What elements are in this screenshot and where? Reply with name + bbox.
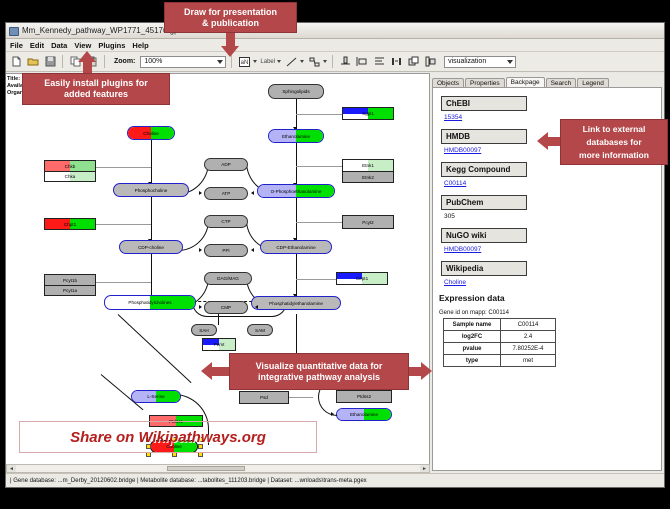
- scroll-right-icon[interactable]: ►: [420, 465, 429, 472]
- node-phosphatidylethanolamine[interactable]: Phosphatidylethanolamine: [251, 296, 341, 310]
- title-bar: Mm_Kennedy_pathway_WP1771_45176.gpml: [6, 23, 664, 39]
- callout-link-line1: Link to external: [583, 123, 646, 136]
- visualization-value: visualization: [448, 58, 486, 65]
- node-label: DAG/MAG: [217, 276, 239, 281]
- node-ethanolamine-top[interactable]: Ethanolamine: [268, 129, 324, 143]
- edge-etnk-link: [296, 166, 342, 167]
- cell-value: C00114: [501, 319, 556, 331]
- menu-item-plugins[interactable]: Plugins: [98, 41, 125, 50]
- expression-table: Sample name C00114 log2FC 2.4 pvalue 7.8…: [443, 318, 556, 367]
- node-label: Psd: [260, 395, 268, 400]
- db-link-nugo[interactable]: HMDB00097: [444, 246, 661, 253]
- node-label: O-Phosphoethanolamine: [271, 189, 322, 194]
- node-ctp[interactable]: CTP: [204, 215, 248, 228]
- expression-data-heading: Expression data: [439, 293, 661, 303]
- chevron-down-icon: [507, 60, 513, 64]
- node-label: ADP: [221, 162, 230, 167]
- app-icon: [9, 26, 18, 35]
- node-label: Chpt1: [64, 222, 76, 227]
- node-pcyt1a[interactable]: Pcyt1a: [44, 285, 96, 296]
- datanode-icon[interactable]: aN: [237, 55, 251, 69]
- table-row: log2FC 2.4: [444, 331, 556, 343]
- callout-draw-line2: & publication: [202, 18, 259, 29]
- node-label: CDP-choline: [138, 245, 164, 250]
- node-label: Ptdss2: [357, 394, 371, 399]
- node-label: Phosphocholine: [135, 188, 168, 193]
- node-label: Etnk2: [362, 175, 374, 180]
- menu-item-data[interactable]: Data: [51, 41, 67, 50]
- menu-bar: File Edit Data View Plugins Help: [6, 39, 664, 52]
- node-label: CDP-Ethanolamine: [276, 245, 315, 250]
- callout-visualize-pointer-left: [201, 362, 212, 380]
- pathway-canvas[interactable]: Title: Availa Organi: [6, 73, 430, 473]
- callout-visualize-shaft-left: [212, 367, 230, 376]
- menu-item-edit[interactable]: Edit: [30, 41, 44, 50]
- node-label: Pcyt1b: [63, 278, 77, 283]
- cell-key: log2FC: [444, 331, 501, 343]
- callout-draw: Draw for presentation & publication: [164, 2, 297, 33]
- node-pemt[interactable]: Pemt: [202, 338, 236, 351]
- callout-visualize-shaft-right: [408, 367, 422, 376]
- chevron-down-icon[interactable]: [253, 60, 257, 63]
- node-pcyt1b[interactable]: Pcyt1b: [44, 274, 96, 285]
- cell-key: Sample name: [444, 319, 501, 331]
- node-ptdss2[interactable]: Ptdss2: [336, 390, 392, 403]
- chevron-down-icon[interactable]: [323, 60, 327, 63]
- table-row: pvalue 7.80252E-4: [444, 343, 556, 355]
- node-label: Sphingolipids: [282, 89, 309, 94]
- shape-icon[interactable]: [307, 55, 321, 69]
- share-text: Share on Wikipathways.org: [70, 429, 266, 446]
- cell-key: type: [444, 355, 501, 367]
- node-cept1[interactable]: Cept1: [336, 272, 388, 285]
- node-sah[interactable]: SAH: [191, 324, 217, 336]
- chevron-down-icon: [217, 60, 223, 64]
- visualization-combo[interactable]: visualization: [444, 56, 516, 68]
- status-text: | Gene database: ...m_Derby_20120602.bri…: [10, 478, 367, 484]
- arrowhead-icon: [251, 191, 254, 195]
- callout-link-line2: databases for: [586, 136, 641, 149]
- align-top-icon[interactable]: [338, 55, 352, 69]
- node-psd[interactable]: Psd: [239, 391, 289, 404]
- cell-value: 7.80252E-4: [501, 343, 556, 355]
- label-tool-text: Label: [260, 59, 275, 65]
- edge-psd-link: [288, 397, 313, 398]
- arrowhead-icon: [331, 412, 334, 416]
- arrowhead-icon: [199, 305, 202, 309]
- tool-bar: Zoom: 100% aN Label: [6, 52, 664, 72]
- db-name-wikipedia: Wikipedia: [441, 261, 527, 276]
- label-tool[interactable]: Label: [260, 59, 281, 65]
- callout-draw-line1: Draw for presentation: [184, 7, 277, 18]
- db-link-wikipedia[interactable]: Choline: [444, 279, 661, 286]
- toolbar-separator: [62, 55, 63, 68]
- node-label: Choline: [143, 131, 159, 136]
- callout-plugins-pointer: [78, 51, 96, 62]
- datanode-tool[interactable]: aN: [237, 55, 257, 69]
- db-link-kegg[interactable]: C00114: [444, 180, 661, 187]
- node-label: Chkb: [65, 164, 76, 169]
- node-label: Ethanolamine: [282, 134, 310, 139]
- node-label: Chka: [65, 174, 76, 179]
- status-bar: | Gene database: ...m_Derby_20120602.bri…: [6, 473, 664, 487]
- db-name-pubchem: PubChem: [441, 195, 527, 210]
- send-back-icon[interactable]: [423, 55, 437, 69]
- line-icon[interactable]: [284, 55, 298, 69]
- arrowhead-icon: [199, 248, 202, 252]
- svg-text:aN: aN: [241, 60, 249, 66]
- db-section-wikipedia: Wikipedia Choline: [441, 258, 661, 286]
- node-cmp[interactable]: CMP: [204, 301, 248, 314]
- db-value-pubchem: 305: [444, 213, 661, 220]
- node-label: CTP: [221, 219, 230, 224]
- node-label: PPi: [222, 248, 229, 253]
- node-pcyt2[interactable]: Pcyt2: [342, 215, 394, 229]
- save-icon[interactable]: [43, 55, 57, 69]
- db-name-chebi: ChEBI: [441, 96, 527, 111]
- screenshot-root: Mm_Kennedy_pathway_WP1771_45176.gpml Fil…: [0, 0, 670, 509]
- db-section-pubchem: PubChem 305: [441, 192, 661, 220]
- node-choline-top[interactable]: Choline: [127, 126, 175, 140]
- callout-plugins-line1: Easily install plugins for: [44, 78, 148, 89]
- open-icon[interactable]: [26, 55, 40, 69]
- callout-visualize: Visualize quantitative data for integrat…: [229, 353, 409, 390]
- callout-visualize-line1: Visualize quantitative data for: [256, 361, 383, 372]
- node-label: Pemt: [214, 342, 225, 347]
- db-name-nugo: NuGO wiki: [441, 228, 527, 243]
- node-label: Pcyt2: [362, 220, 374, 225]
- callout-plugins-shaft: [83, 60, 92, 74]
- node-label: SAM: [255, 328, 265, 333]
- node-cdp-choline[interactable]: CDP-choline: [119, 240, 183, 254]
- table-row: type met: [444, 355, 556, 367]
- cell-value: 2.4: [501, 331, 556, 343]
- db-section-chebi: ChEBI 15354: [441, 93, 661, 121]
- node-label: Pcyt1a: [63, 288, 77, 293]
- line-tool[interactable]: [284, 55, 304, 69]
- node-label: Phosphatidylcholines: [128, 300, 171, 305]
- callout-visualize-line2: integrative pathway analysis: [258, 372, 380, 383]
- node-phosphocholine[interactable]: Phosphocholine: [113, 183, 189, 197]
- zoom-combo[interactable]: 100%: [140, 56, 226, 68]
- callout-plugins: Easily install plugins for added feature…: [22, 73, 170, 105]
- chevron-down-icon[interactable]: [277, 60, 281, 63]
- node-label: SAH: [199, 328, 208, 333]
- zoom-label: Zoom:: [114, 58, 135, 65]
- cell-value: met: [501, 355, 556, 367]
- cell-key: pvalue: [444, 343, 501, 355]
- window-title: Mm_Kennedy_pathway_WP1771_45176.gpml: [22, 26, 187, 35]
- callout-plugins-line2: added features: [64, 89, 128, 100]
- node-sam[interactable]: SAM: [247, 324, 273, 336]
- node-label: Cept1: [356, 276, 368, 281]
- arrowhead-icon: [251, 248, 254, 252]
- edge-pcyt2-link: [296, 222, 342, 223]
- node-chkb[interactable]: Chkb: [44, 160, 96, 171]
- node-etnk2[interactable]: Etnk2: [342, 171, 394, 183]
- node-label: CMP: [221, 305, 231, 310]
- arrowhead-icon: [255, 305, 258, 309]
- callout-draw-pointer: [221, 46, 239, 57]
- node-cdp-ethanolamine[interactable]: CDP-Ethanolamine: [260, 240, 332, 254]
- toolbar-separator: [104, 55, 105, 68]
- node-sphingolipids[interactable]: Sphingolipids: [268, 84, 324, 99]
- node-lserine-left[interactable]: L-Serine: [131, 390, 181, 403]
- node-chpt1[interactable]: Chpt1: [44, 218, 96, 230]
- zoom-value: 100%: [144, 58, 162, 65]
- new-icon[interactable]: [9, 55, 23, 69]
- edge-sgpl1-link: [296, 114, 342, 115]
- callout-link-pointer: [537, 132, 548, 150]
- db-name-kegg: Kegg Compound: [441, 162, 527, 177]
- node-label: Etnk1: [362, 163, 374, 168]
- node-etnk1[interactable]: Etnk1: [342, 159, 394, 171]
- callout-link: Link to external databases for more info…: [560, 119, 668, 165]
- node-dagmag[interactable]: DAG/MAG: [204, 272, 252, 285]
- node-adp[interactable]: ADP: [204, 158, 248, 171]
- chevron-down-icon[interactable]: [300, 60, 304, 63]
- table-row: Sample name C00114: [444, 319, 556, 331]
- callout-share: Share on Wikipathways.org: [19, 421, 317, 453]
- node-chka[interactable]: Chka: [44, 171, 96, 182]
- node-label: Phosphatidylethanolamine: [269, 301, 323, 306]
- scroll-left-icon[interactable]: ◄: [7, 465, 16, 472]
- arrowhead-icon: [199, 191, 202, 195]
- canvas-hscrollbar[interactable]: ◄ ►: [6, 464, 430, 473]
- node-label: L-Serine: [147, 394, 164, 399]
- db-name-hmdb: HMDB: [441, 129, 527, 144]
- node-label: Ethanolamine: [350, 412, 378, 417]
- distribute-icon[interactable]: [372, 55, 386, 69]
- node-ethanolamine-right[interactable]: Ethanolamine: [336, 408, 392, 421]
- node-sgpl1[interactable]: Sgpl1: [342, 107, 394, 120]
- node-atp[interactable]: ATP: [204, 187, 248, 200]
- scroll-thumb[interactable]: [167, 466, 245, 471]
- toolbar-separator: [332, 55, 333, 68]
- node-label: ATP: [222, 191, 231, 196]
- edge-cept1-link: [296, 279, 336, 280]
- callout-visualize-pointer-right: [421, 362, 432, 380]
- node-label: Sgpl1: [362, 111, 374, 116]
- shape-tool[interactable]: [307, 55, 327, 69]
- same-width-icon[interactable]: [389, 55, 403, 69]
- edge-chpt1-link: [96, 224, 151, 225]
- edge-pcyt1-link: [96, 282, 151, 283]
- menu-item-view[interactable]: View: [74, 41, 91, 50]
- edge-chk-link: [96, 167, 151, 168]
- node-ophosphoethanolamine[interactable]: O-Phosphoethanolamine: [257, 184, 335, 198]
- gene-id-line: Gene id on mapp: C00114: [439, 310, 661, 316]
- menu-item-file[interactable]: File: [10, 41, 23, 50]
- align-left-icon[interactable]: [355, 55, 369, 69]
- callout-link-line3: more information: [579, 149, 649, 162]
- db-section-nugo: NuGO wiki HMDB00097: [441, 225, 661, 253]
- node-ppi[interactable]: PPi: [204, 244, 248, 257]
- bring-front-icon[interactable]: [406, 55, 420, 69]
- edge-ptdcholine-choline: [118, 314, 192, 383]
- node-phosphatidylcholines[interactable]: Phosphatidylcholines: [104, 295, 196, 310]
- menu-item-help[interactable]: Help: [132, 41, 148, 50]
